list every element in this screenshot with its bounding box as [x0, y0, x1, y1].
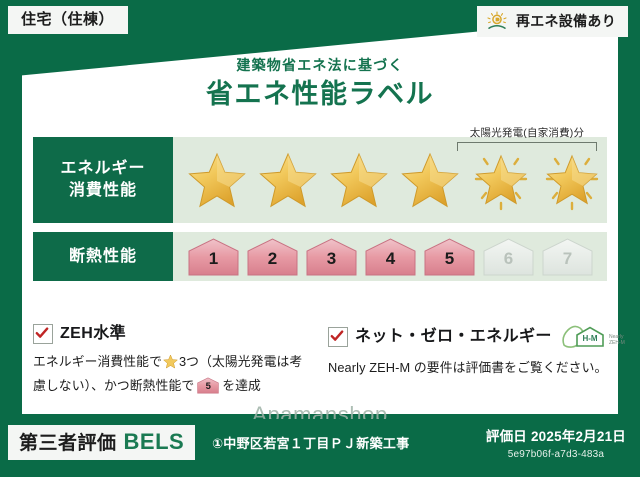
claims-section: ZEH水準 エネルギー消費性能で 3つ（太陽光発電は考慮しない）、かつ断熱性能で…: [33, 324, 613, 396]
footer-meta: 評価日 2025年2月21日 5e97b06f-a7d3-483a: [486, 430, 626, 460]
check-icon: [35, 326, 49, 340]
title-block: 建築物省エネ法に基づく 省エネ性能ラベル: [0, 58, 640, 108]
sun-solar-icon: [486, 11, 510, 31]
zeh-standard-checkbox[interactable]: [33, 324, 53, 344]
zeh-body-suffix: を達成: [222, 378, 261, 393]
insulation-level-house: 4: [363, 237, 418, 277]
zehm-mark-text: H-M: [582, 334, 597, 343]
evaluation-id: 5e97b06f-a7d3-483a: [486, 450, 626, 460]
net-zero-checkbox[interactable]: [328, 327, 348, 347]
star-icon: [254, 147, 322, 213]
star-icon-solar: [467, 147, 535, 213]
footer: 第三者評価 BELS ①中野区若宮１丁目ＰＪ新築工事 評価日 2025年2月21…: [0, 419, 640, 477]
energy-performance-label: 住宅（住棟） 再エネ設備あり 建築物省エネ法に基づく: [0, 0, 640, 477]
insulation-label-text: 断熱性能: [69, 246, 137, 268]
bels-en-label: BELS: [124, 431, 185, 453]
check-icon: [330, 329, 344, 343]
insulation-level-value: 7: [540, 250, 595, 267]
claim-header: ネット・ゼロ・エネルギー H-M Nearly ZEH-M: [328, 324, 613, 350]
energy-consumption-row: エネルギー 消費性能: [33, 137, 607, 223]
insulation-row: 断熱性能: [33, 232, 607, 281]
net-zero-body: Nearly ZEH-M の要件は評価書をご覧ください。: [328, 358, 613, 379]
bels-jp-label: 第三者評価: [19, 434, 117, 453]
housing-type-chip: 住宅（住棟）: [8, 6, 128, 34]
renewable-energy-badge: 再エネ設備あり: [477, 6, 628, 37]
insulation-level-scale: 1 2 3: [173, 237, 595, 277]
insulation-level-value: 2: [245, 250, 300, 267]
star-icon: [325, 147, 393, 213]
insulation-level-value: 6: [481, 250, 536, 267]
insulation-level-house: 5: [422, 237, 477, 277]
energy-label-line1: エネルギー: [60, 158, 145, 180]
insulation-level-house: 1: [186, 237, 241, 277]
renewable-badge-label: 再エネ設備あり: [516, 14, 616, 28]
insulation-row-body: 1 2 3: [173, 232, 607, 281]
energy-row-body: 太陽光発電(自家消費)分: [173, 137, 607, 223]
property-address: ①中野区若宮１丁目ＰＪ新築工事: [212, 437, 410, 450]
energy-label-line2: 消費性能: [69, 180, 137, 202]
insulation-level-house: 3: [304, 237, 359, 277]
insulation-level-value: 4: [363, 250, 418, 267]
nearly-zeh-m-logo: H-M Nearly ZEH-M: [559, 324, 625, 350]
star-rating: [173, 147, 606, 213]
zeh-standard-body: エネルギー消費性能で 3つ（太陽光発電は考慮しない）、かつ断熱性能で 5を達成: [33, 352, 314, 396]
bels-chip: 第三者評価 BELS: [8, 425, 195, 460]
zehm-caption-2: ZEH-M: [609, 340, 625, 346]
performance-rows: エネルギー 消費性能: [33, 137, 607, 290]
evaluation-date: 評価日 2025年2月21日: [486, 430, 626, 444]
insulation-level-house: 7: [540, 237, 595, 277]
title-subtitle: 建築物省エネ法に基づく: [0, 58, 640, 72]
insulation-level-value: 5: [422, 250, 477, 267]
insulation-level-house: 2: [245, 237, 300, 277]
star-icon: [396, 147, 464, 213]
inline-star-icon: [163, 354, 178, 376]
claim-header: ZEH水準: [33, 324, 314, 344]
zeh-body-prefix: エネルギー消費性能で: [33, 354, 162, 369]
insulation-level-value: 3: [304, 250, 359, 267]
net-zero-title: ネット・ゼロ・エネルギー: [355, 329, 552, 345]
star-icon-solar: [538, 147, 606, 213]
claim-net-zero-energy: ネット・ゼロ・エネルギー H-M Nearly ZEH-M Nearly ZEH…: [328, 324, 613, 396]
insulation-level-house: 6: [481, 237, 536, 277]
page-title: 省エネ性能ラベル: [0, 81, 640, 108]
inline-insulation-value: 5: [196, 382, 220, 392]
housing-type-label: 住宅（住棟）: [21, 11, 114, 28]
insulation-level-value: 1: [186, 250, 241, 267]
energy-row-label: エネルギー 消費性能: [33, 137, 173, 223]
insulation-row-label: 断熱性能: [33, 232, 173, 281]
zeh-standard-title: ZEH水準: [60, 326, 126, 342]
star-icon: [183, 147, 251, 213]
claim-zeh-standard: ZEH水準 エネルギー消費性能で 3つ（太陽光発電は考慮しない）、かつ断熱性能で…: [33, 324, 314, 396]
inline-insulation-badge: 5: [196, 377, 220, 394]
